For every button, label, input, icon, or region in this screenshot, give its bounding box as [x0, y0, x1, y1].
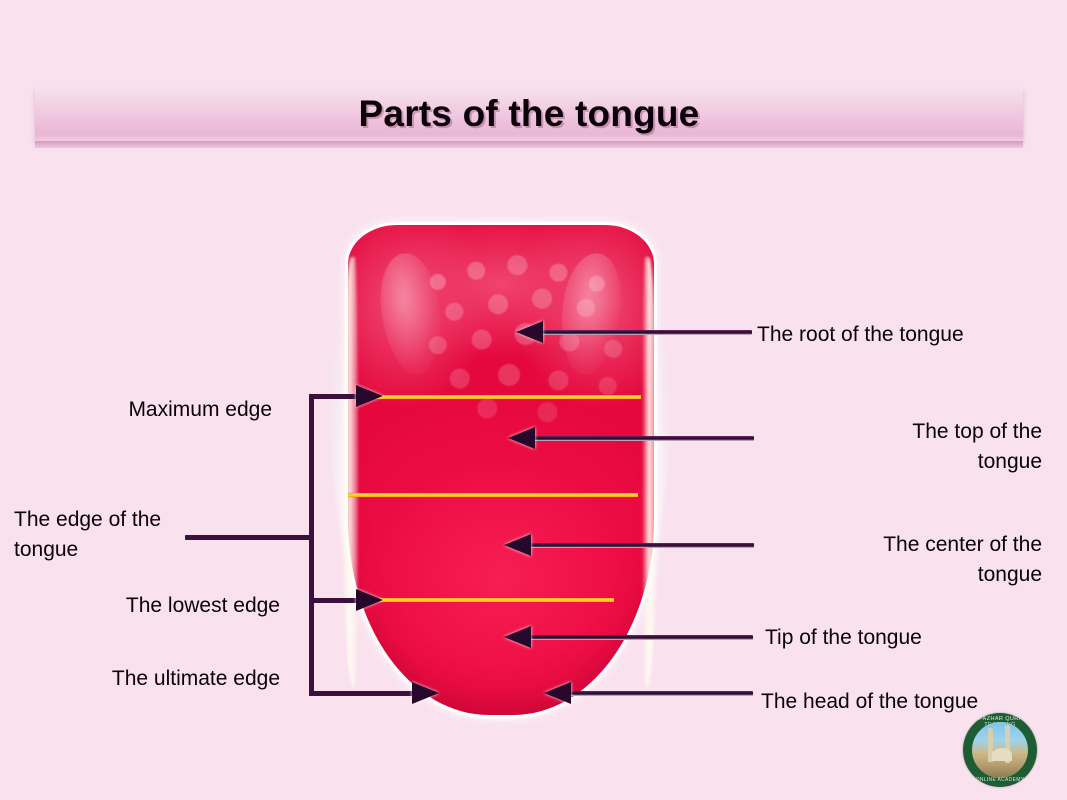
arrowhead-tip — [504, 626, 531, 648]
label-lowest-edge: The lowest edge — [60, 591, 280, 621]
label-maximum-edge: Maximum edge — [60, 395, 272, 425]
arrowhead-center — [504, 534, 531, 556]
arrowhead-lowest-edge — [356, 589, 383, 611]
label-edge-of-tongue: The edge of the tongue — [14, 505, 244, 565]
label-tip-of-tongue: Tip of the tongue — [765, 623, 1055, 653]
arrowhead-ultimate-edge — [412, 682, 439, 704]
label-ultimate-edge: The ultimate edge — [46, 664, 280, 694]
division-line-lower — [357, 598, 614, 602]
leader-tip — [528, 635, 753, 640]
label-head-of-tongue: The head of the tongue — [761, 687, 1061, 717]
label-top-of-tongue: The top of the tongue — [757, 417, 1042, 477]
al-azhar-quran-teaching-logo[interactable]: AL-AZHAR QURAN TEACHING ONLINE ACADEMY — [963, 713, 1037, 787]
logo-mosque-image — [972, 722, 1028, 778]
arrowhead-maximum-edge — [356, 385, 383, 407]
logo-bottom-text: ONLINE ACADEMY — [963, 777, 1037, 783]
arrowhead-root — [516, 321, 543, 343]
bracket-spine — [309, 394, 314, 696]
arrowhead-top — [508, 427, 535, 449]
title-banner: Parts of the tongue — [35, 86, 1023, 141]
tongue-rim-left — [342, 257, 358, 687]
page-title: Parts of the tongue — [35, 93, 1023, 135]
division-line-upper — [375, 395, 641, 399]
leader-center — [528, 543, 754, 548]
label-center-of-tongue: The center of the tongue — [757, 530, 1042, 590]
tongue-body — [348, 225, 654, 715]
division-line-middle — [348, 493, 638, 497]
mosque-dome-icon — [992, 748, 1012, 761]
leader-root — [540, 330, 752, 335]
leader-head — [568, 691, 753, 696]
leader-top — [532, 436, 754, 441]
arrowhead-head — [544, 682, 571, 704]
tongue-diagram — [318, 215, 682, 725]
label-root-of-tongue: The root of the tongue — [757, 320, 1057, 350]
